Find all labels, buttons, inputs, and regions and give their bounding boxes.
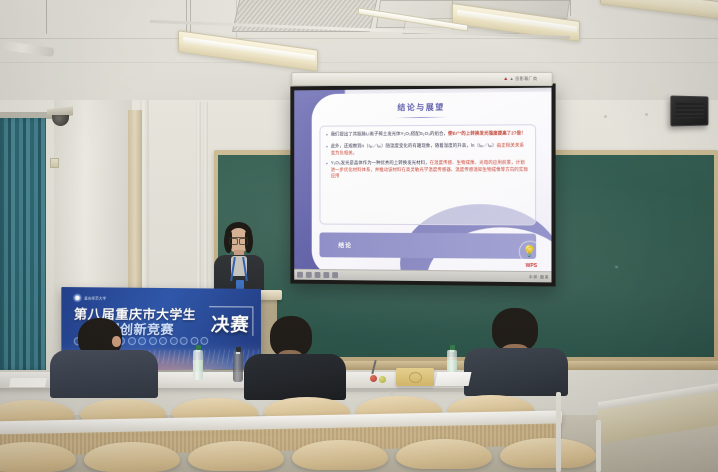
university-seal-icon [73,293,82,302]
bullet-text: 此外，还观察到n（Iₑᵣ／Iₑᵣ）随温度变化的有趣现象，随着温度的升高，ln（I… [331,143,529,157]
seat [500,438,596,468]
slide: 结论与展望 • 我们提出了共振脉Li离子稀土发光体Y₂O₃搭配S₂O₃的组合，使… [294,88,551,283]
judge-jacket [464,348,568,396]
slide-footer-label: 结论 [338,240,352,249]
paper-sheet [9,378,47,387]
slide-bullet-list: • 我们提出了共振脉Li离子稀土发光体Y₂O₃搭配S₂O₃的组合，使Er³⁺的上… [319,125,535,226]
slide-bullet: • Y₂O₃发光是晶体作为一种优秀的上转换发光材料，在温度传感、生物成像、光电的… [326,160,528,179]
university-name: 重庆师范大学 [84,295,106,300]
taskbar-ime-status[interactable]: 中 拼 · 图 英 [529,275,549,280]
seating-rail-2 [596,420,601,472]
projection-screen-housing: ▲▲ 投影幕厂商 [291,72,552,86]
slide-bullet: • 我们提出了共振脉Li离子稀土发光体Y₂O₃搭配S₂O₃的组合，使Er³⁺的上… [326,131,528,140]
lightbulb-icon: 💡 [518,240,540,262]
seating-row-2 [0,442,580,472]
slide-title: 结论与展望 [294,101,551,114]
banner-icon [180,337,188,345]
seating-rail [556,392,561,472]
water-bottle-left [193,344,203,380]
folder-icon[interactable] [315,272,321,278]
judge-center [238,316,350,388]
seating-row-1 [0,400,566,440]
wall-pipe-left [0,40,54,57]
slide-bullet: • 此外，还观察到n（Iₑᵣ／Iₑᵣ）随温度变化的有趣现象，随着温度的升高，ln… [326,143,528,157]
browser-icon[interactable] [323,272,329,278]
projection-screen-surface: 结论与展望 • 我们提出了共振脉Li离子稀土发光体Y₂O₃搭配S₂O₃的组合，使… [294,88,551,283]
wps-logo: WPS [526,263,538,269]
search-icon[interactable] [306,272,312,278]
banner-icon [169,337,177,345]
ceiling-light-far-right [600,0,718,19]
slide-footer-bar: 结论 [319,232,535,258]
glasses-icon [229,237,248,242]
judge-jacket [50,350,158,398]
projection-screen: 结论与展望 • 我们提出了共振脉Li离子稀土发光体Y₂O₃搭配S₂O₃的组合，使… [290,83,555,286]
bullet-text: 我们提出了共振脉Li离子稀土发光体Y₂O₃搭配S₂O₃的组合，使Er³⁺的上转换… [331,131,526,140]
seat [188,441,284,471]
bullet-marker-icon: • [326,132,328,140]
bullet-marker-icon: • [326,144,328,157]
ceiling-light-left [178,30,318,72]
bullet-marker-icon: • [326,160,328,179]
seat [396,439,492,469]
judge-jacket [244,354,346,400]
classroom-scene: ▲▲ 投影幕厂商 结论与展望 • 我们提出了共振脉Li离子稀土发光体Y₂O₃搭配… [0,0,718,472]
water-bottle-center [233,348,243,382]
bottle-cap [236,347,241,352]
bullet-text: Y₂O₃发光是晶体作为一种优秀的上转换发光材料，在温度传感、生物成像、光电的应用… [331,160,529,179]
brand-triangle-icon: ▲ [503,76,508,82]
seat [84,442,180,472]
windows-taskbar[interactable]: 中 拼 · 图 英 [294,269,551,283]
judge-left [40,318,160,388]
housing-brand-label: ▲▲ 投影幕厂商 [503,76,537,82]
judge-ear [112,336,121,347]
handbag [396,368,434,386]
university-logo: 重庆师范大学 [73,293,106,302]
wall-outlet-upper [50,158,59,168]
seat [0,442,76,472]
banner-icon [159,337,167,345]
wps-taskbar-icon[interactable] [332,272,338,278]
apple-red [370,375,377,382]
speaker-grill [675,101,704,118]
judge-right [456,308,572,390]
seat [292,440,388,470]
start-icon[interactable] [297,272,303,278]
apple-green [379,376,386,383]
side-desk [598,392,718,472]
notebook [435,372,472,386]
bottle-cap [196,345,201,350]
bottle-cap [450,345,455,350]
wall-speaker [670,96,708,127]
